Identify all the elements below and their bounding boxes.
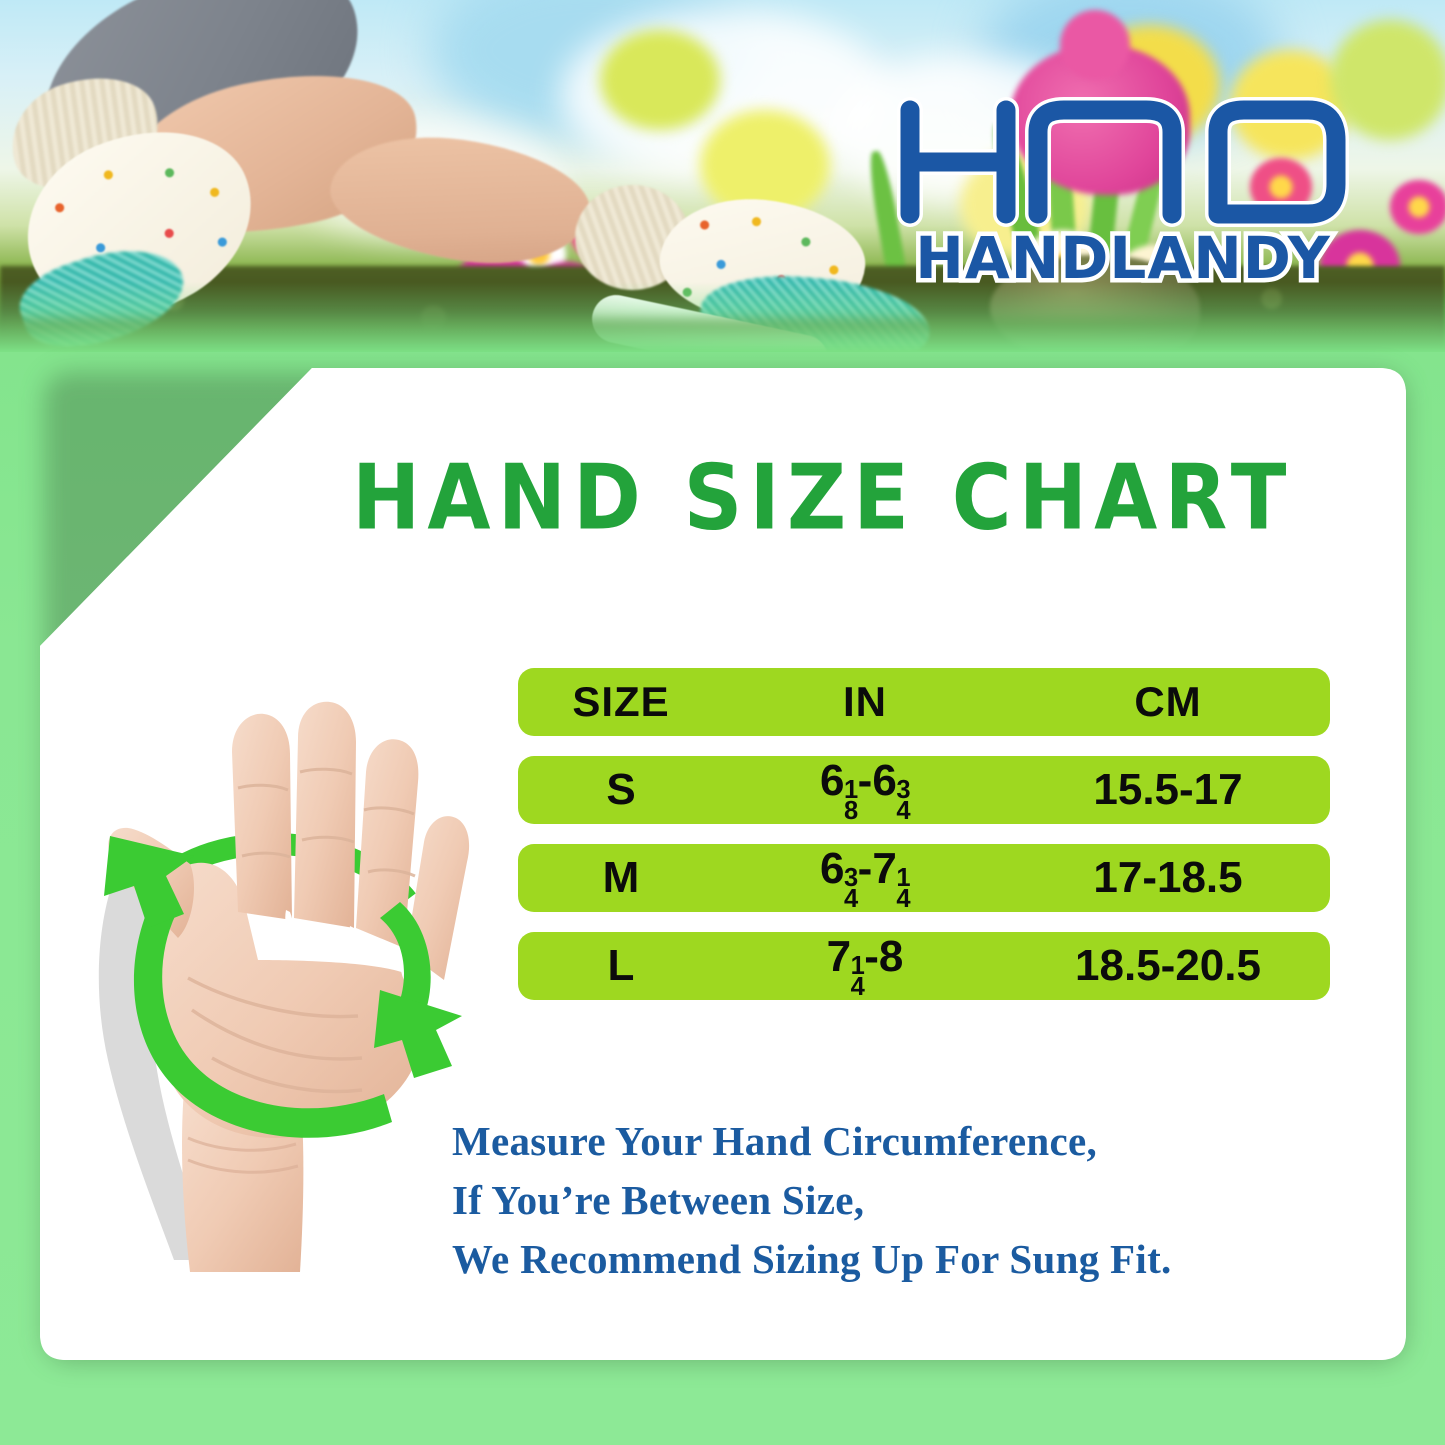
hyacinth-flower-icon [1060, 10, 1130, 80]
size-chart-table: SIZE IN CM S 618-634 15.5-17 M 634-714 1… [518, 668, 1330, 1000]
cell-cm: 15.5-17 [1006, 768, 1330, 812]
photo-fade [0, 282, 1445, 352]
measurement-instructions: Measure Your Hand Circumference, If You’… [452, 1112, 1332, 1289]
table-row: M 634-714 17-18.5 [518, 844, 1330, 912]
table-header-row: SIZE IN CM [518, 668, 1330, 736]
column-header-cm: CM [1006, 681, 1330, 723]
cell-size: S [518, 768, 724, 812]
brand-name: HANDLANDY [915, 224, 1330, 287]
hand-size-chart-page: HANDLANDY HAND SIZE CHART [0, 0, 1445, 1445]
note-line-1: Measure Your Hand Circumference, [452, 1112, 1332, 1171]
cell-in: 634-714 [724, 847, 1006, 910]
column-header-in: IN [724, 681, 1006, 723]
flower-blur-icon [600, 30, 720, 130]
daisy-flower-icon [1390, 180, 1445, 234]
cell-in: 618-634 [724, 759, 1006, 822]
note-line-2: If You’re Between Size, [452, 1171, 1332, 1230]
cell-cm: 17-18.5 [1006, 856, 1330, 900]
cell-cm: 18.5-20.5 [1006, 944, 1330, 988]
note-line-3: We Recommend Sizing Up For Sung Fit. [452, 1230, 1332, 1289]
cell-in: 714-8 [724, 935, 1006, 998]
cell-size: L [518, 944, 724, 988]
table-row: L 714-8 18.5-20.5 [518, 932, 1330, 1000]
cell-size: M [518, 856, 724, 900]
page-title: HAND SIZE CHART [352, 448, 1382, 549]
column-header-size: SIZE [518, 681, 724, 723]
table-row: S 618-634 15.5-17 [518, 756, 1330, 824]
hand-circumference-illustration [62, 660, 482, 1280]
brand-logo: HANDLANDY [888, 92, 1358, 287]
